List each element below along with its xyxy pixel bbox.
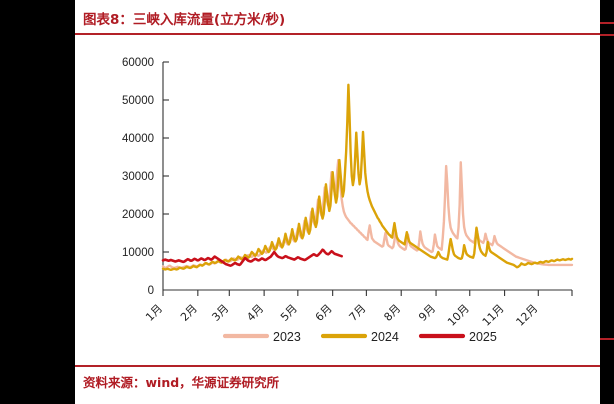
legend-label-2023: 2023 <box>273 330 301 344</box>
x-tick-label: 4月 <box>244 302 266 324</box>
figure-card: 图表8：三峡入库流量(立方米/秒) 0100002000030000400005… <box>75 0 600 404</box>
x-tick-label: 11月 <box>480 302 507 329</box>
series-line-2023 <box>163 160 572 268</box>
adjacent-figure-sliver <box>600 0 614 404</box>
y-tick-label: 60000 <box>122 57 154 69</box>
x-tick-label: 6月 <box>313 302 335 324</box>
x-axis-ticks <box>163 290 572 296</box>
y-tick-label: 10000 <box>122 247 154 259</box>
y-axis-ticks <box>163 62 169 252</box>
sliver-rule-bottom <box>600 338 614 340</box>
x-tick-label: 7月 <box>347 302 369 324</box>
y-tick-label: 0 <box>148 285 154 297</box>
title-divider <box>75 33 600 35</box>
legend-label-2024: 2024 <box>371 330 399 344</box>
sliver-rule-second <box>600 34 614 36</box>
x-tick-label: 10月 <box>445 302 472 329</box>
page-title: 图表8：三峡入库流量(立方米/秒) <box>83 8 553 30</box>
x-axis-tick-labels: 1月2月3月4月5月6月7月8月9月10月11月12月 <box>143 302 540 329</box>
x-tick-label: 9月 <box>416 302 438 324</box>
data-series-group <box>163 85 572 270</box>
line-chart: 0100002000030000400005000060000 1月2月3月4月… <box>75 40 600 360</box>
x-tick-label: 12月 <box>514 302 541 329</box>
chart-container: 0100002000030000400005000060000 1月2月3月4月… <box>75 40 600 360</box>
sliver-rule-top <box>600 22 614 24</box>
y-tick-label: 40000 <box>122 133 154 145</box>
y-tick-label: 20000 <box>122 209 154 221</box>
x-tick-label: 5月 <box>278 302 300 324</box>
legend-label-2025: 2025 <box>469 330 497 344</box>
chart-legend: 202320242025 <box>225 330 497 344</box>
series-line-2024 <box>163 85 572 270</box>
source-note: 资料来源：wind，华源证券研究所 <box>83 372 553 392</box>
y-tick-label: 30000 <box>122 171 154 183</box>
x-tick-label: 3月 <box>209 302 231 324</box>
x-tick-label: 1月 <box>143 302 165 324</box>
y-tick-label: 50000 <box>122 95 154 107</box>
x-tick-label: 2月 <box>178 302 200 324</box>
y-axis-tick-labels: 0100002000030000400005000060000 <box>122 57 154 297</box>
source-divider <box>75 365 600 367</box>
x-tick-label: 8月 <box>381 302 403 324</box>
